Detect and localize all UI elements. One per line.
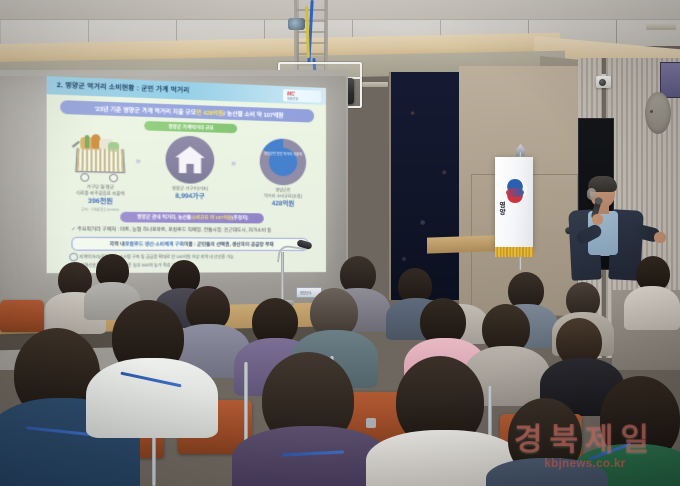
purple-pill-pre: 영양군 관내 먹거리, 농산물 (137, 214, 191, 221)
slide-logo-sub: 영양군청 (287, 96, 298, 100)
slide-headline-pre: '23년 기준 영양군 가계 먹거리 지출 규모 (94, 104, 196, 116)
presenter-hand-right (654, 232, 666, 243)
slide-bullet-text: 주요먹거리 구매처 : 마트, 농협 하나로마트, 로컬푸드 직매장, 전통시장… (77, 226, 271, 232)
slide-figures-row: » » 영양군민 연간 먹거리 지출액 가구당 월 평균 식료품·비주류음료 지… (47, 130, 326, 214)
figure-value: 8,994가구 (149, 191, 229, 202)
arrow-icon: » (135, 155, 138, 166)
wall-speaker-icon (645, 92, 671, 134)
slide-logo: MC 영양군청 (283, 89, 321, 103)
chair-backrest (0, 300, 44, 332)
slide-bullet-line: ✓ 주요먹거리 구매처 : 마트, 농협 하나로마트, 로컬푸드 직매장, 전통… (71, 226, 312, 234)
slide-purple-pill: 영양군 관내 먹거리, 농산물 소비규모 약 107억원(추정치) (120, 212, 264, 224)
government-emblem-icon (503, 179, 527, 203)
outline-highlight: 로컬푸드 생산-소비체계 구축 (125, 241, 184, 247)
house-icon (166, 135, 215, 184)
outline-post: 미흡 : 군민들의 선택권, 생산자의 공급망 부재 (184, 241, 274, 247)
figure-caption-donut: 영양군민 먹거리 소비규모(추정) 428억원 (244, 187, 321, 210)
microphone-stand (281, 252, 284, 304)
slide-headline-band: '23년 기준 영양군 가계 먹거리 지출 규모 연 428억원 / 농산물 소… (60, 100, 314, 123)
slide-outline-box: 지역 내 로컬푸드 생산-소비체계 구축 미흡 : 군민들의 선택권, 생산자의… (71, 237, 308, 251)
arrow-icon: » (231, 158, 234, 168)
flag-text: 영양 (498, 203, 507, 217)
note-bullet-icon (69, 253, 78, 262)
projected-slide: 2. 영양군 먹거리 소비현황 : 군민 가계 먹거리 MC 영양군청 '23년… (47, 76, 326, 273)
ceremonial-flag: 영양 (495, 157, 533, 249)
donut-chart-label: 영양군민 연간 먹거리 지출액 (260, 151, 306, 157)
wall-dark-star-panel (389, 72, 465, 300)
projector-lens (288, 18, 305, 30)
presenter-hand-left (592, 214, 603, 225)
cctv-camera-icon (595, 74, 612, 92)
chair-bracket (366, 418, 376, 428)
outline-pre: 지역 내 (110, 241, 125, 247)
audience-shoulders (86, 358, 218, 438)
purple-pill-post: (추정치) (232, 215, 248, 221)
desk-nameplate-label: 영양군수 (300, 290, 312, 295)
check-icon: ✓ (71, 226, 75, 231)
figure-caption-cart: 가구당 월 평균 식료품·비주류음료 지출액 396천원 출처 : 가계동향조사… (58, 183, 142, 212)
wall-display-right (660, 62, 680, 98)
photo-scene: 2. 영양군 먹거리 소비현황 : 군민 가계 먹거리 MC 영양군청 '23년… (0, 0, 680, 486)
shopping-cart-icon (71, 132, 128, 182)
slide-headline-highlight: 연 428억원 (196, 108, 224, 117)
donut-chart-icon: 영양군민 연간 먹거리 지출액 (260, 138, 306, 186)
figure-value: 428억원 (244, 199, 321, 210)
slide-green-pill: 영양군 가계먹거리 규모 (144, 121, 237, 133)
purple-pill-highlight: 소비규모 약 107억원 (191, 215, 232, 222)
slide-green-pill-label: 영양군 가계먹거리 규모 (168, 123, 213, 131)
slide-headline-post: / 농산물 소비 약 107억원 (224, 109, 284, 119)
ceiling-vent (646, 24, 676, 30)
audience-shoulders (624, 286, 680, 330)
figure-caption-house: 영양군 가구수(기초) 8,994가구 (149, 185, 229, 203)
